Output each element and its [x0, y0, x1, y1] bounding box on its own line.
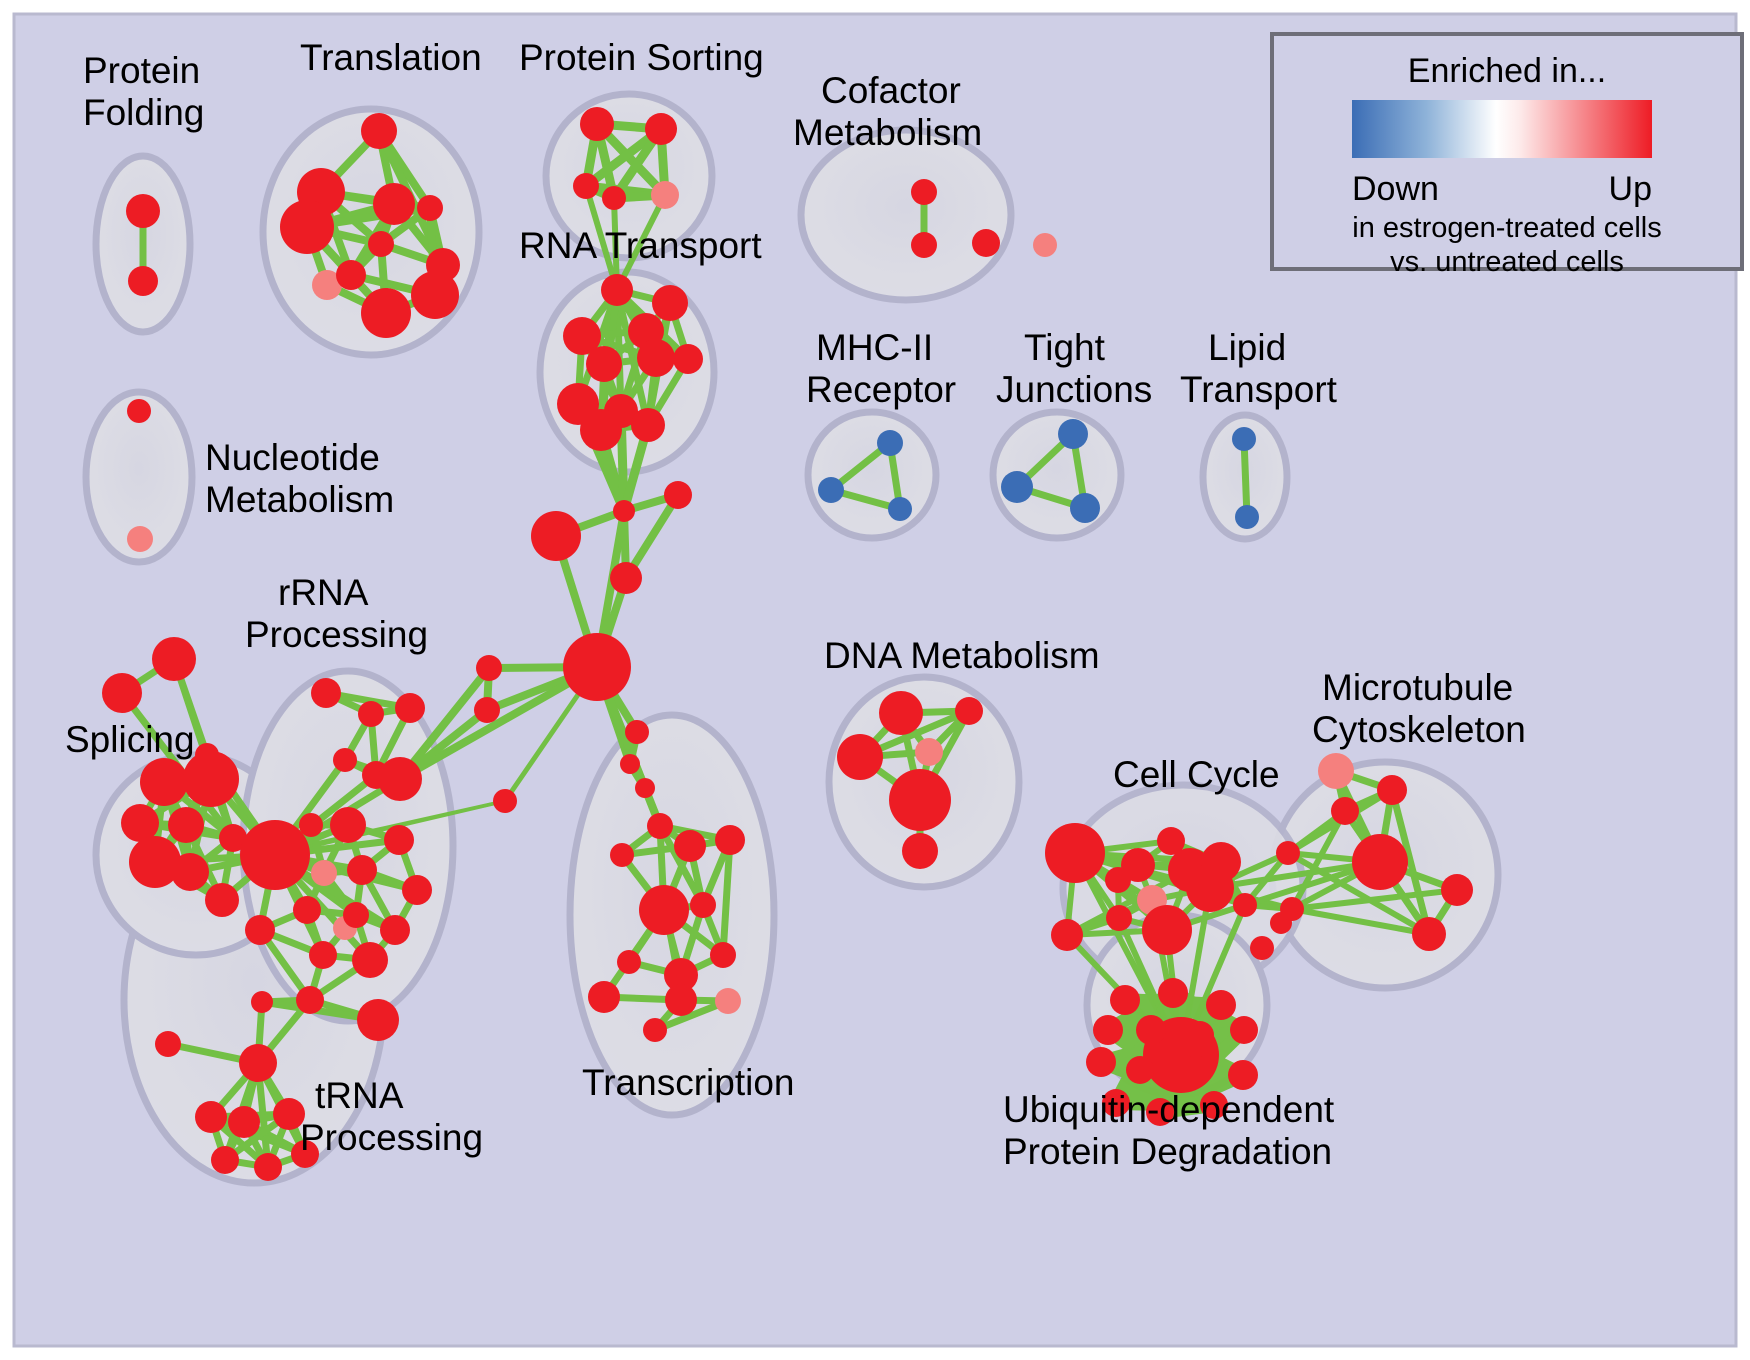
node [690, 892, 716, 918]
node [239, 1044, 277, 1082]
node [602, 186, 626, 210]
node [171, 853, 209, 891]
node [293, 896, 321, 924]
node [1105, 867, 1131, 893]
node [384, 825, 414, 855]
node [228, 1106, 260, 1138]
node [205, 883, 239, 917]
node [1106, 905, 1132, 931]
node [140, 758, 188, 806]
node [643, 1018, 667, 1042]
node [1441, 874, 1473, 906]
node [378, 757, 422, 801]
node [639, 885, 689, 935]
cluster-label-protein-folding-2: Folding [83, 92, 204, 133]
network-diagram: .edge{stroke:#73c045;stroke-linecap:roun… [0, 0, 1750, 1360]
node [1235, 505, 1259, 529]
node [625, 720, 649, 744]
node [1070, 493, 1100, 523]
node [955, 697, 983, 725]
halo-cofactor-metabolism [801, 130, 1011, 300]
node [127, 526, 153, 552]
node [102, 673, 142, 713]
node [1051, 919, 1083, 951]
cluster-label-rna-transport: RNA Transport [519, 225, 762, 266]
node [1058, 419, 1088, 449]
cluster-label-translation: Translation [300, 37, 482, 78]
node [1331, 797, 1359, 825]
node [1206, 990, 1236, 1020]
cluster-label-dna-metabolism: DNA Metabolism [824, 635, 1100, 676]
legend: Enriched in... Down Up in estrogen-treat… [1272, 34, 1742, 278]
node [563, 633, 631, 701]
node [1086, 1047, 1116, 1077]
node [126, 194, 160, 228]
node [673, 344, 703, 374]
node [476, 655, 502, 681]
cluster-label-ubiquitin-1: Ubiquitin-dependent [1003, 1089, 1335, 1130]
node [972, 229, 1000, 257]
node [1377, 775, 1407, 805]
node [915, 738, 943, 766]
node [251, 991, 273, 1013]
cluster-label-rrna-1: rRNA [278, 572, 369, 613]
legend-left-end: Down [1352, 170, 1439, 208]
node [837, 734, 883, 780]
cluster-label-rrna-2: Processing [245, 614, 428, 655]
node [254, 1153, 282, 1181]
node [1352, 834, 1408, 890]
node [877, 430, 903, 456]
node [902, 833, 938, 869]
node [128, 266, 158, 296]
node [588, 981, 620, 1013]
node [245, 915, 275, 945]
node [1228, 1060, 1258, 1090]
node [645, 113, 677, 145]
node [664, 481, 692, 509]
node [402, 875, 432, 905]
node [631, 408, 665, 442]
node [352, 942, 388, 978]
node [1142, 905, 1192, 955]
cluster-label-microtubule-2: Cytoskeleton [1312, 709, 1526, 750]
node [357, 999, 399, 1041]
node [1110, 985, 1140, 1015]
cluster-label-cofactor-2: Metabolism [793, 112, 982, 153]
node [1033, 233, 1057, 257]
node [580, 107, 614, 141]
node [280, 200, 334, 254]
node [652, 285, 688, 321]
node [333, 748, 357, 772]
cluster-label-mhc-ii-1: MHC-II [816, 327, 933, 368]
legend-right-end: Up [1609, 170, 1652, 208]
node [889, 769, 951, 831]
cluster-label-trna-1: tRNA [315, 1075, 404, 1116]
cluster-label-mhc-ii-2: Receptor [806, 369, 956, 410]
cluster-label-lipid-transport-1: Lipid [1208, 327, 1286, 368]
node [879, 691, 923, 735]
node [1186, 864, 1234, 912]
node [411, 271, 459, 319]
node [1001, 471, 1033, 503]
node [311, 860, 337, 886]
node [474, 697, 500, 723]
cluster-label-ubiquitin-2: Protein Degradation [1003, 1131, 1332, 1172]
legend-title: Enriched in... [1408, 52, 1606, 90]
node [610, 562, 642, 594]
node [651, 181, 679, 209]
node [1276, 841, 1300, 865]
node [531, 511, 581, 561]
node [343, 902, 369, 928]
node [715, 988, 741, 1014]
cluster-label-cofactor-1: Cofactor [821, 70, 961, 111]
cluster-label-microtubule-1: Microtubule [1322, 667, 1513, 708]
cluster-label-tight-junctions-1: Tight [1024, 327, 1106, 368]
halo-mhc-ii-receptor [808, 412, 936, 538]
node [635, 778, 655, 798]
node [309, 941, 337, 969]
node [1183, 1055, 1209, 1081]
node [620, 754, 640, 774]
node [710, 942, 736, 968]
node [1126, 1056, 1154, 1084]
node [1045, 823, 1105, 883]
node [911, 179, 937, 205]
node [1232, 427, 1256, 451]
node [211, 1146, 239, 1174]
node [601, 274, 633, 306]
figure-root: .edge{stroke:#73c045;stroke-linecap:roun… [0, 0, 1750, 1360]
legend-sub-line-2: vs. untreated cells [1390, 246, 1624, 278]
node [888, 497, 912, 521]
node [417, 195, 443, 221]
node [127, 399, 151, 423]
legend-colorbar [1352, 100, 1652, 158]
node [674, 830, 706, 862]
node [1318, 753, 1354, 789]
node [665, 984, 697, 1016]
node [573, 173, 599, 199]
cluster-label-nucleotide-2: Metabolism [205, 479, 394, 520]
node [818, 477, 844, 503]
node [361, 113, 397, 149]
node [336, 260, 366, 290]
node [358, 701, 384, 727]
cluster-label-lipid-transport-2: Transport [1180, 369, 1338, 410]
node [296, 986, 324, 1014]
node [330, 807, 366, 843]
node [368, 231, 394, 257]
node [586, 346, 622, 382]
node [1233, 893, 1257, 917]
node [493, 789, 517, 813]
node [1412, 917, 1446, 951]
cluster-label-transcription: Transcription [582, 1062, 794, 1103]
node [240, 820, 310, 890]
cluster-label-protein-folding-1: Protein [83, 50, 200, 91]
node [613, 500, 635, 522]
node [715, 825, 745, 855]
node [299, 813, 323, 837]
node [1186, 1021, 1214, 1049]
node [195, 1101, 227, 1133]
node [347, 855, 377, 885]
legend-sub-line-1: in estrogen-treated cells [1352, 212, 1662, 244]
cluster-label-tight-junctions-2: Junctions [996, 369, 1152, 410]
node [647, 813, 673, 839]
node [168, 807, 204, 843]
cluster-label-cell-cycle: Cell Cycle [1113, 754, 1280, 795]
node [1093, 1015, 1123, 1045]
node [380, 915, 410, 945]
node [637, 339, 675, 377]
node [1280, 897, 1304, 921]
node [155, 1031, 181, 1057]
node [610, 843, 634, 867]
node [1136, 1015, 1166, 1045]
node [395, 693, 425, 723]
node [311, 678, 341, 708]
node [911, 232, 937, 258]
node [1250, 936, 1274, 960]
cluster-label-trna-2: Processing [300, 1117, 483, 1158]
node [152, 637, 196, 681]
node [1158, 978, 1188, 1008]
cluster-label-protein-sorting: Protein Sorting [519, 37, 764, 78]
node [580, 409, 622, 451]
node [1230, 1016, 1258, 1044]
cluster-label-nucleotide-1: Nucleotide [205, 437, 380, 478]
node [617, 950, 641, 974]
node [361, 288, 411, 338]
cluster-label-splicing: Splicing [65, 719, 195, 760]
node [373, 183, 415, 225]
